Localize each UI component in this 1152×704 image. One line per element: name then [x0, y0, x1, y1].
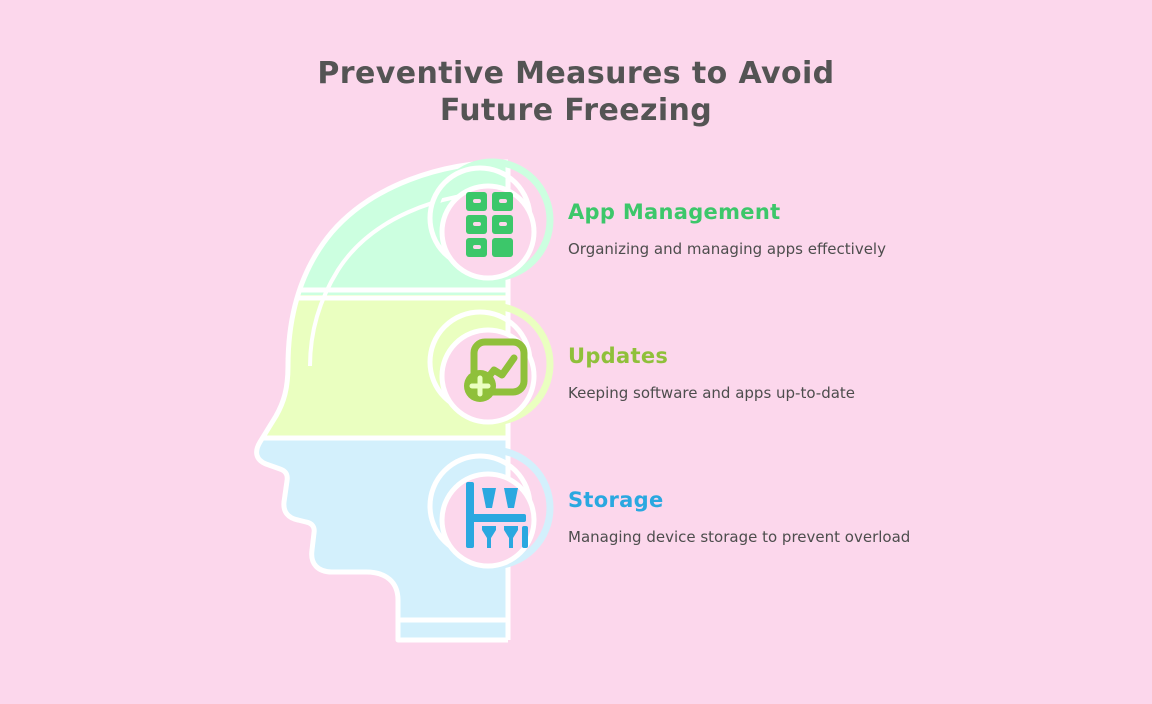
section-storage: Storage Managing device storage to preve… [568, 488, 1128, 546]
section-description-storage: Managing device storage to prevent overl… [568, 528, 1128, 546]
page-title-line-1: Preventive Measures to Avoid [0, 56, 1152, 93]
section-heading-storage: Storage [568, 488, 1128, 512]
page-title: Preventive Measures to Avoid Future Free… [0, 56, 1152, 129]
section-updates: Updates Keeping software and apps up-to-… [568, 344, 1128, 402]
section-description-updates: Keeping software and apps up-to-date [568, 384, 1128, 402]
band-storage [240, 440, 620, 660]
section-app-management: App Management Organizing and managing a… [568, 200, 1128, 258]
infographic-canvas: Preventive Measures to Avoid Future Free… [0, 0, 1152, 704]
section-heading-app-management: App Management [568, 200, 1128, 224]
head-color-bands [240, 120, 620, 660]
section-description-app-management: Organizing and managing apps effectively [568, 240, 1128, 258]
section-heading-updates: Updates [568, 344, 1128, 368]
head-profile-illustration [240, 120, 620, 660]
